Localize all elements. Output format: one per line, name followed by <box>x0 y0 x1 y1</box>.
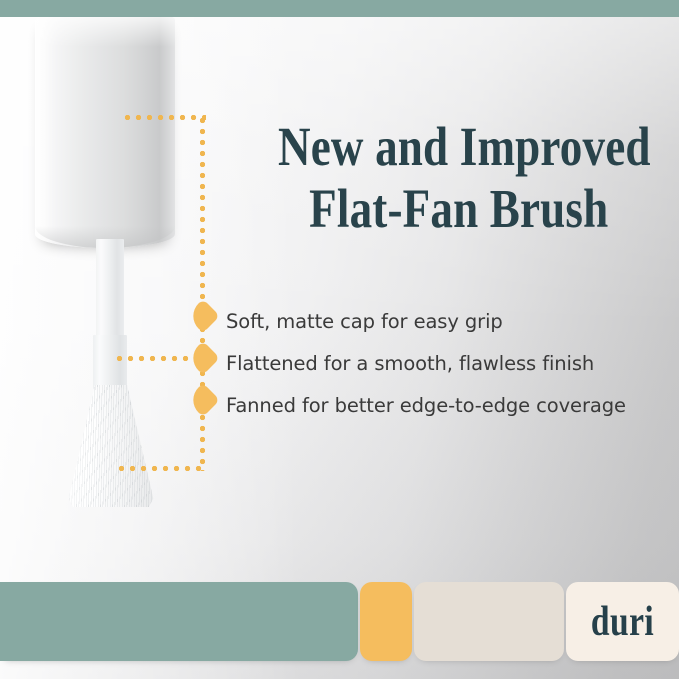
feature-list: Soft, matte cap for easy grip Flattened … <box>226 300 666 426</box>
feature-text: Soft, matte cap for easy grip <box>226 310 503 333</box>
brush-cap <box>35 17 175 248</box>
brush-neck <box>96 239 124 339</box>
headline-line-1: New and Improved <box>278 116 599 178</box>
list-item: Flattened for a smooth, flawless finish <box>226 342 666 384</box>
bottom-bar-green-segment <box>0 582 358 661</box>
brand-logo-panel: duri <box>566 582 679 661</box>
brush-ferrule <box>93 335 127 389</box>
headline: New and Improved Flat-Fan Brush <box>278 116 599 240</box>
list-item: Soft, matte cap for easy grip <box>226 300 666 342</box>
list-item: Fanned for better edge-to-edge coverage <box>226 384 666 426</box>
headline-line-2: Flat-Fan Brush <box>309 178 599 240</box>
bottom-bar-cream-segment <box>414 582 564 661</box>
feature-text: Flattened for a smooth, flawless finish <box>226 352 594 375</box>
brush-bristles-shading <box>66 385 156 507</box>
top-accent-stripe <box>0 0 679 17</box>
product-image-brush <box>0 17 240 537</box>
feature-text: Fanned for better edge-to-edge coverage <box>226 394 626 417</box>
bottom-color-bar: duri <box>0 582 679 661</box>
brand-logo-text: duri <box>591 601 654 643</box>
bottom-bar-amber-segment <box>360 582 412 661</box>
advertisement-banner: New and Improved Flat-Fan Brush Soft, ma… <box>0 0 679 679</box>
cap-top-highlight <box>35 17 175 47</box>
